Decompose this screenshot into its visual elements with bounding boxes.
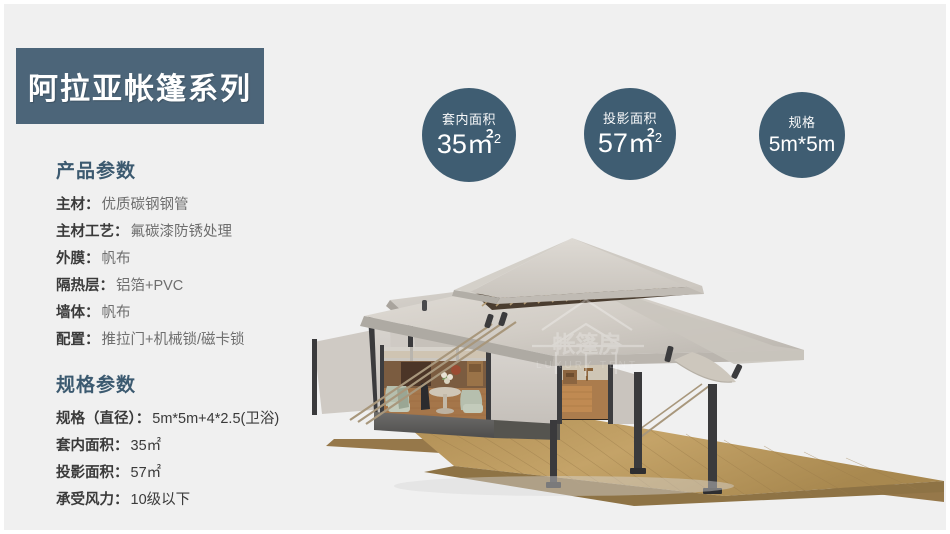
param-key: 投影面积： [56, 465, 129, 481]
param-key: 主材工艺： [56, 224, 129, 240]
svg-text:LUXURY TENT: LUXURY TENT [536, 360, 638, 371]
stat-badge-dimensions: 规格 5m*5m [759, 92, 845, 178]
stat-badge-projected-area: 投影面积 57㎡2 [584, 88, 676, 180]
badge-number: 5m*5m [769, 133, 836, 156]
badge-value: 5m*5m [769, 134, 836, 155]
badge-superscript: 2 [655, 130, 662, 145]
title-banner: 阿拉亚帐篷系列 [16, 48, 264, 124]
param-value: 57㎡ [131, 465, 162, 481]
stat-badge-interior-area: 套内面积 35㎡2 [422, 88, 516, 182]
badge-unit: ㎡ [467, 129, 494, 159]
badge-number: 35 [437, 129, 467, 159]
badge-number: 57 [598, 128, 628, 158]
param-value: 铝箔+PVC [116, 278, 183, 294]
param-key: 承受风力： [56, 492, 129, 508]
badge-label: 投影面积 [603, 112, 657, 125]
svg-text:帐篷房: 帐篷房 [553, 331, 622, 358]
param-value: 帆布 [102, 305, 131, 321]
badge-unit: ㎡ [628, 128, 655, 158]
param-key: 规格（直径）： [56, 411, 150, 427]
tent-illustration: 帐篷房 LUXURY TENT [304, 234, 950, 534]
badge-value: 35㎡2 [437, 131, 501, 158]
param-value: 35㎡ [131, 438, 162, 454]
upper-roof [452, 238, 704, 310]
param-value: 推拉门+机械锁/磁卡锁 [102, 332, 245, 348]
param-value: 氟碳漆防锈处理 [131, 224, 233, 240]
section-heading-product: 产品参数 [56, 156, 376, 183]
param-value: 帆布 [102, 251, 131, 267]
page-title: 阿拉亚帐篷系列 [28, 64, 252, 108]
badge-superscript: 2 [494, 131, 501, 146]
param-key: 隔热层： [56, 278, 114, 294]
param-key: 墙体： [56, 305, 100, 321]
param-key: 主材： [56, 197, 100, 213]
tent-rendering-svg: 帐篷房 LUXURY TENT [304, 234, 950, 534]
badge-label: 套内面积 [442, 113, 496, 126]
param-key: 外膜： [56, 251, 100, 267]
product-spec-page: 阿拉亚帐篷系列 产品参数 主材：优质碳钢钢管 主材工艺：氟碳漆防锈处理 外膜：帆… [0, 0, 950, 534]
badge-value: 57㎡2 [598, 130, 662, 157]
param-value: 5m*5m+4*2.5(卫浴) [152, 411, 279, 427]
param-key: 套内面积： [56, 438, 129, 454]
param-value: 优质碳钢钢管 [102, 197, 189, 213]
ground-shadow [394, 476, 734, 496]
param-value: 10级以下 [131, 492, 191, 508]
badge-label: 规格 [788, 116, 815, 129]
param-key: 配置： [56, 332, 100, 348]
param-row: 主材：优质碳钢钢管 [56, 192, 376, 219]
